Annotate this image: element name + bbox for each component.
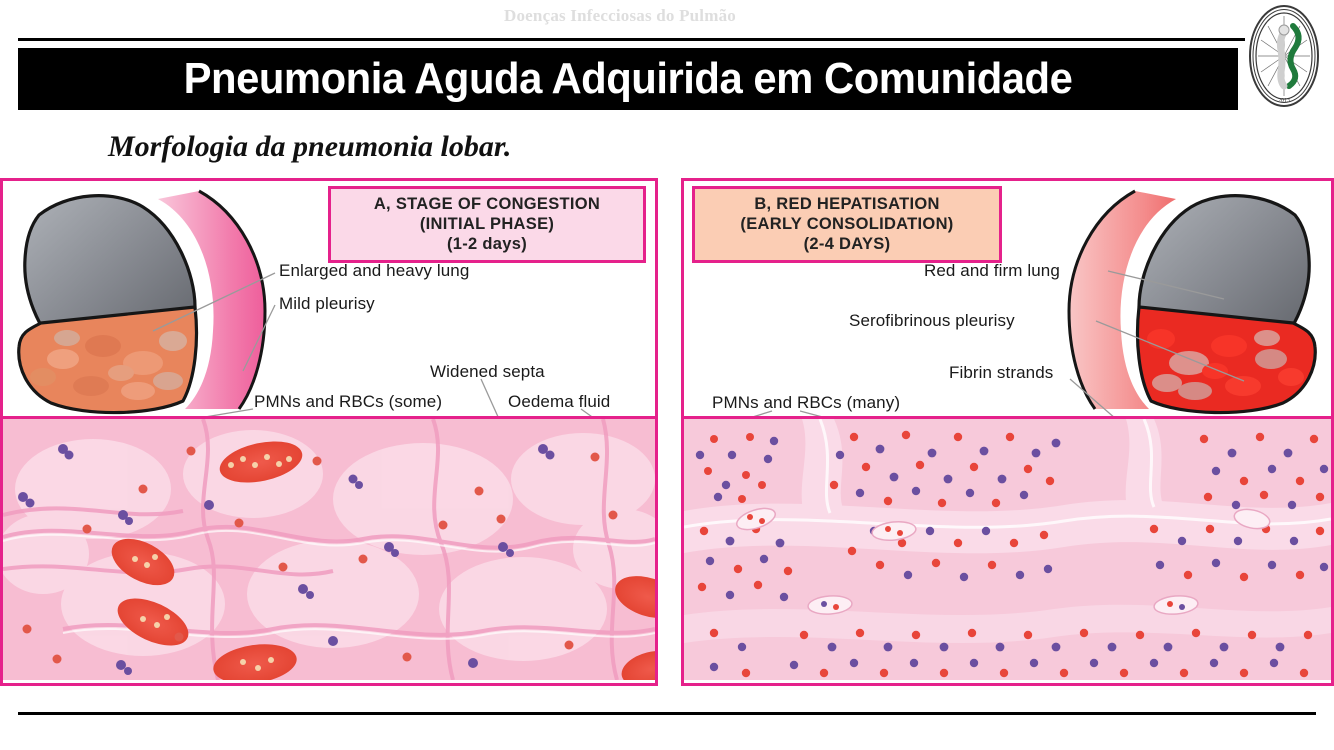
slide: Doenças Infecciosas do Pulmão Pneumonia … xyxy=(0,0,1334,750)
slide-subtitle: Morfologia da pneumonia lobar. xyxy=(108,130,511,164)
panel-a-caption-line3: (1-2 days) xyxy=(341,234,633,254)
panel-a-caption-line1: A, STAGE OF CONGESTION xyxy=(341,194,633,214)
panel-a-caption: A, STAGE OF CONGESTION (INITIAL PHASE) (… xyxy=(328,186,646,263)
page-title: Pneumonia Aguda Adquirida em Comunidade xyxy=(49,48,1208,110)
panel-b-caption-line1: B, RED HEPATISATION xyxy=(705,194,989,214)
running-head: Doenças Infecciosas do Pulmão xyxy=(0,6,1240,26)
panel-b-caption: B, RED HEPATISATION (EARLY CONSOLIDATION… xyxy=(692,186,1002,263)
figure-panel-b: Red and firm lung Serofibrinous pleurisy… xyxy=(681,178,1334,686)
panel-a-diagram-area: Enlarged and heavy lung Mild pleurisy Wi… xyxy=(3,181,655,419)
panel-b-diagram-area: Red and firm lung Serofibrinous pleurisy… xyxy=(684,181,1331,419)
panel-a-caption-line2: (INITIAL PHASE) xyxy=(341,214,633,234)
title-banner: Pneumonia Aguda Adquirida em Comunidade xyxy=(18,48,1238,110)
panel-a-histology xyxy=(3,416,655,683)
figure-panel-a: Enlarged and heavy lung Mild pleurisy Wi… xyxy=(0,178,658,686)
top-divider xyxy=(18,38,1245,41)
university-medicine-emblem-logo: 2013 xyxy=(1247,2,1321,110)
panel-b-histology xyxy=(684,416,1331,683)
panel-b-caption-line2: (EARLY CONSOLIDATION) xyxy=(705,214,989,234)
panel-b-caption-line3: (2-4 DAYS) xyxy=(705,234,989,254)
svg-text:2013: 2013 xyxy=(1278,98,1290,104)
bottom-divider xyxy=(18,712,1316,715)
